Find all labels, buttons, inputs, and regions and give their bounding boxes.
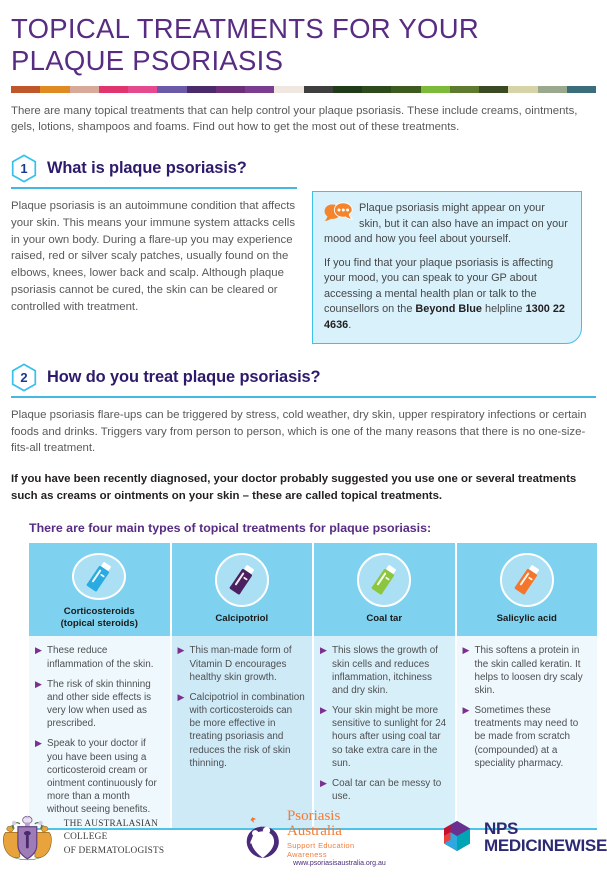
cream-tube-icon xyxy=(215,553,269,607)
list-item: ▶This softens a protein in the skin call… xyxy=(463,644,591,697)
section-2-heading: 2 How do you treat plaque psoriasis? xyxy=(11,363,596,392)
list-item-text: These reduce inflammation of the skin. xyxy=(47,644,163,670)
treatment-label-4: Salicylic acid xyxy=(497,613,557,625)
triangle-bullet-icon: ▶ xyxy=(178,644,188,684)
section-number-1: 1 xyxy=(20,162,27,175)
list-item: ▶This man-made form of Vitamin D encoura… xyxy=(178,644,306,684)
nps-cube-icon xyxy=(438,818,476,858)
list-item: ▶Your skin might be more sensitive to su… xyxy=(320,704,448,770)
triangle-bullet-icon: ▶ xyxy=(35,644,45,670)
treatment-types-table: Corticosteroids(topical steroids)▶These … xyxy=(29,543,597,830)
section-2-body: Plaque psoriasis flare-ups can be trigge… xyxy=(11,407,596,457)
list-item: ▶Sometimes these treatments may need to … xyxy=(463,704,591,770)
list-item: ▶Calcipotriol in combination with cortic… xyxy=(178,691,306,770)
list-item-text: The risk of skin thinning and other side… xyxy=(47,678,163,731)
acd-line-2: OF DERMATOLOGISTS xyxy=(64,845,197,858)
beyond-blue-label: Beyond Blue xyxy=(415,303,482,315)
treatment-column-1: Corticosteroids(topical steroids)▶These … xyxy=(29,543,170,828)
color-bar-segment-19 xyxy=(567,86,596,93)
list-item-text: Your skin might be more sensitive to sun… xyxy=(332,704,448,770)
color-bar-segment-12 xyxy=(362,86,391,93)
treatment-column-4: Salicylic acid▶This softens a protein in… xyxy=(455,543,598,828)
section-1-body: Plaque psoriasis is an autoimmune condit… xyxy=(11,198,297,315)
color-bar-segment-7 xyxy=(216,86,245,93)
color-bar-segment-16 xyxy=(479,86,508,93)
color-bar-segment-9 xyxy=(274,86,303,93)
australasian-college-text: THE AUSTRALASIAN COLLEGE OF DERMATOLOGIS… xyxy=(64,818,197,858)
list-item-text: This softens a protein in the skin calle… xyxy=(475,644,591,697)
triangle-bullet-icon: ▶ xyxy=(320,704,330,770)
triangle-bullet-icon: ▶ xyxy=(463,644,473,697)
section-number-badge-2: 2 xyxy=(11,363,37,392)
cream-tube-icon xyxy=(72,553,126,600)
list-item: ▶These reduce inflammation of the skin. xyxy=(35,644,163,670)
pa-tagline: Support Education Awareness xyxy=(287,841,392,859)
color-bar-segment-15 xyxy=(450,86,479,93)
list-item: ▶The risk of skin thinning and other sid… xyxy=(35,678,163,731)
intro-paragraph: There are many topical treatments that c… xyxy=(11,103,596,135)
nps-line-2: MEDICINEWISE xyxy=(484,838,607,855)
color-bar-segment-5 xyxy=(157,86,186,93)
triangle-bullet-icon: ▶ xyxy=(463,704,473,770)
acd-line-1: THE AUSTRALASIAN COLLEGE xyxy=(64,818,197,845)
color-bar-segment-2 xyxy=(70,86,99,93)
section-1-title: What is plaque psoriasis? xyxy=(47,159,247,178)
treatment-column-header-4: Salicylic acid xyxy=(457,543,598,636)
nps-medicinewise-logo: NPS MEDICINEWISE xyxy=(438,818,607,858)
triangle-bullet-icon: ▶ xyxy=(178,691,188,770)
mental-health-callout: Plaque psoriasis might appear on your sk… xyxy=(312,191,582,344)
page-title: TOPICAL TREATMENTS FOR YOUR PLAQUE PSORI… xyxy=(11,0,596,77)
list-item-text: This slows the growth of skin cells and … xyxy=(332,644,448,697)
cream-tube-icon xyxy=(357,553,411,607)
treatment-column-2: Calcipotriol▶This man-made form of Vitam… xyxy=(170,543,313,828)
callout-paragraph-2: If you find that your plaque psoriasis i… xyxy=(324,256,570,333)
footer-logos: THE AUSTRALASIAN COLLEGE OF DERMATOLOGIS… xyxy=(0,794,607,882)
section-1-heading: 1 What is plaque psoriasis? xyxy=(11,154,596,183)
treatment-column-header-3: Coal tar xyxy=(314,543,455,636)
color-bar-segment-18 xyxy=(538,86,567,93)
treatment-label-line-1: Corticosteroids xyxy=(61,606,138,618)
treatment-label-1: Corticosteroids(topical steroids) xyxy=(61,606,138,629)
callout-text-2b: helpline xyxy=(482,303,526,315)
nps-medicinewise-text: NPS MEDICINEWISE xyxy=(484,821,607,854)
section-2-rule xyxy=(11,396,596,398)
psoriasis-australia-text: Psoriasis Australia Support Education Aw… xyxy=(287,809,392,867)
color-divider-bar xyxy=(11,86,596,93)
list-item-text: Calcipotriol in combination with cortico… xyxy=(190,691,306,770)
color-bar-segment-17 xyxy=(508,86,537,93)
color-bar-segment-6 xyxy=(187,86,216,93)
callout-text-1: Plaque psoriasis might appear on your sk… xyxy=(324,202,568,245)
color-bar-segment-8 xyxy=(245,86,274,93)
table-lead-text: There are four main types of topical tre… xyxy=(29,521,596,535)
heraldic-crest-icon xyxy=(0,812,55,864)
list-item-text: This man-made form of Vitamin D encourag… xyxy=(190,644,306,684)
triangle-bullet-icon: ▶ xyxy=(320,644,330,697)
document-page: TOPICAL TREATMENTS FOR YOUR PLAQUE PSORI… xyxy=(0,0,607,882)
section-1-rule xyxy=(11,187,297,189)
color-bar-segment-0 xyxy=(11,86,40,93)
list-item: ▶This slows the growth of skin cells and… xyxy=(320,644,448,697)
triangle-bullet-icon: ▶ xyxy=(35,678,45,731)
section-2-title: How do you treat plaque psoriasis? xyxy=(47,368,320,387)
color-bar-segment-11 xyxy=(333,86,362,93)
australasian-college-of-dermatologists-logo: THE AUSTRALASIAN COLLEGE OF DERMATOLOGIS… xyxy=(0,812,196,864)
cream-tube-icon xyxy=(500,553,554,607)
callout-text-2c: . xyxy=(348,319,351,331)
callout-paragraph-1: Plaque psoriasis might appear on your sk… xyxy=(324,201,570,247)
color-bar-segment-14 xyxy=(421,86,450,93)
pa-title: Psoriasis Australia xyxy=(287,809,392,839)
speech-bubble-icon xyxy=(324,202,354,223)
color-bar-segment-10 xyxy=(304,86,333,93)
treatment-label-line-1: Calcipotriol xyxy=(215,613,268,625)
section-1-left-column: Plaque psoriasis is an autoimmune condit… xyxy=(11,183,297,315)
treatment-label-3: Coal tar xyxy=(366,613,402,625)
section-2-bold-note: If you have been recently diagnosed, you… xyxy=(11,471,596,505)
treatment-label-2: Calcipotriol xyxy=(215,613,268,625)
color-bar-segment-3 xyxy=(99,86,128,93)
color-bar-segment-1 xyxy=(40,86,69,93)
section-number-badge-1: 1 xyxy=(11,154,37,183)
treatment-label-line-1: Salicylic acid xyxy=(497,613,557,625)
list-item-text: Sometimes these treatments may need to b… xyxy=(475,704,591,770)
treatment-label-line-1: Coal tar xyxy=(366,613,402,625)
pa-url: www.psoriasisaustralia.org.au xyxy=(287,860,392,867)
psoriasis-australia-people-icon xyxy=(242,813,284,863)
color-bar-segment-13 xyxy=(391,86,420,93)
treatment-column-3: Coal tar▶This slows the growth of skin c… xyxy=(312,543,455,828)
treatment-column-header-2: Calcipotriol xyxy=(172,543,313,636)
psoriasis-australia-logo: Psoriasis Australia Support Education Aw… xyxy=(242,809,392,867)
section-number-2: 2 xyxy=(20,371,27,384)
treatment-column-header-1: Corticosteroids(topical steroids) xyxy=(29,543,170,636)
treatment-label-line-2: (topical steroids) xyxy=(61,618,138,630)
color-bar-segment-4 xyxy=(128,86,157,93)
